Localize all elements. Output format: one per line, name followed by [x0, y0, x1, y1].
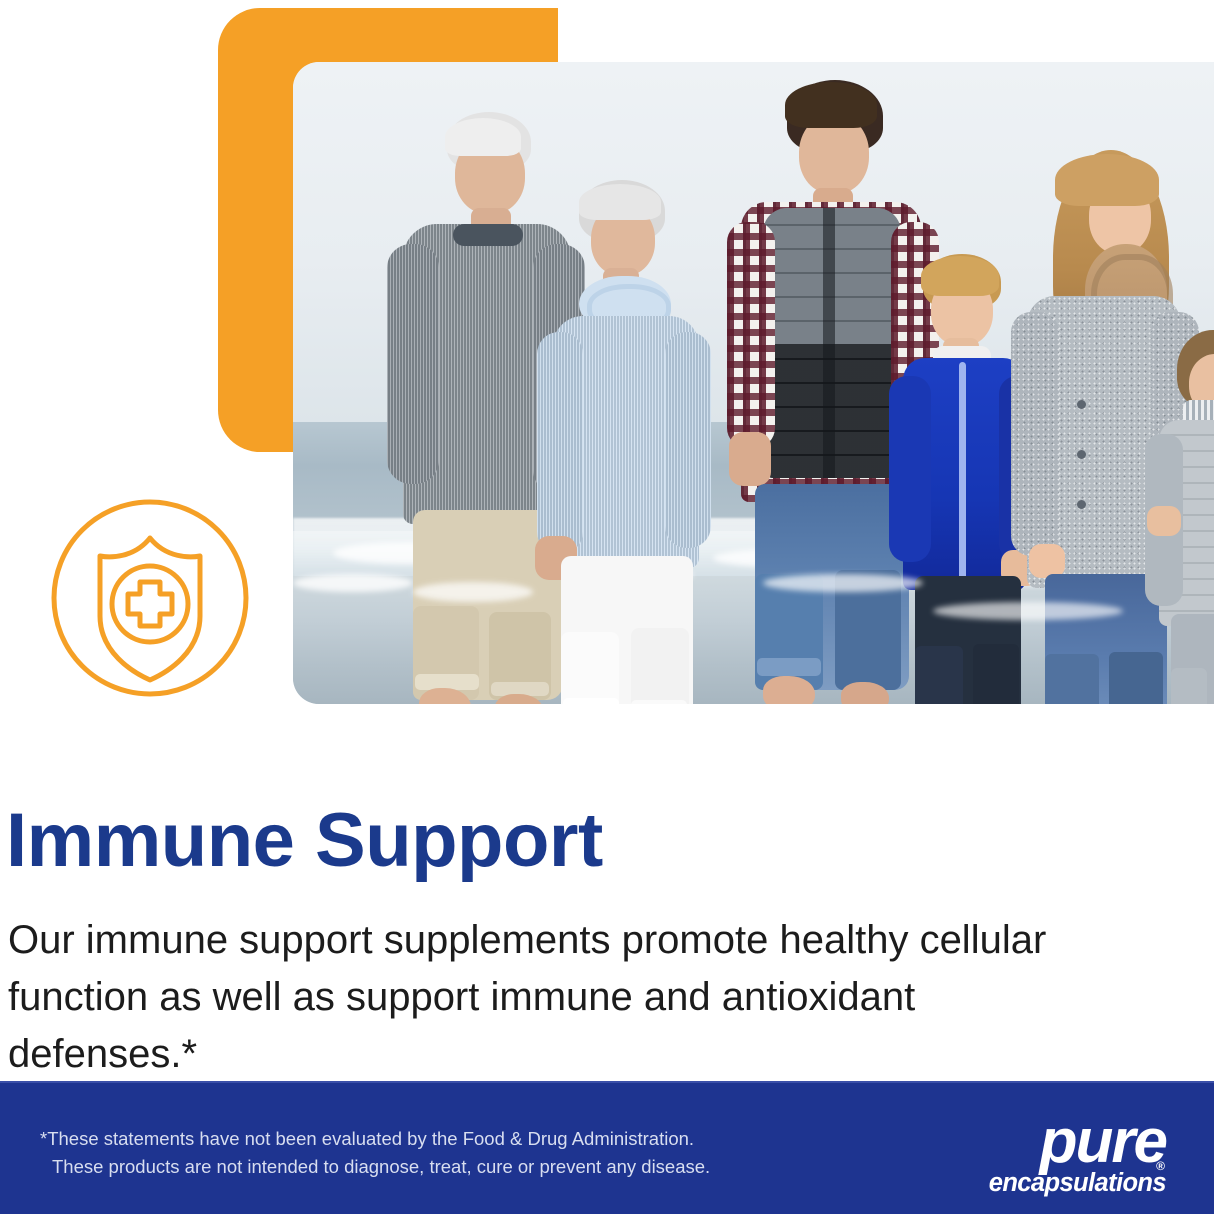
father-curls [785, 82, 877, 128]
logo-wordmark-encapsulations: encapsulations [950, 1171, 1166, 1197]
grandmother-left-arm [537, 332, 583, 554]
family-beach-photo [293, 62, 1214, 704]
son-left-arm [889, 376, 931, 562]
mother-hair-front [1055, 154, 1159, 206]
marketing-banner: Immune Support Our immune support supple… [0, 0, 1214, 1214]
pure-encapsulations-logo: pure encapsulations ® [950, 1113, 1166, 1195]
fda-disclaimer: *These statements have not been evaluate… [40, 1125, 710, 1181]
son-bangs [921, 256, 999, 296]
shield-with-medical-cross-icon [48, 496, 252, 700]
grandmother-right-arm [665, 332, 711, 548]
person-daughter [1143, 330, 1214, 704]
grandmother-hair-front [579, 184, 661, 220]
grandfather-hair-front [445, 118, 521, 156]
logo-wordmark-pure: pure [950, 1113, 1166, 1170]
father-foot [763, 676, 815, 704]
immune-shield-badge [48, 496, 252, 700]
body-copy: Our immune support supplements promote h… [8, 912, 1098, 1082]
page-title: Immune Support [6, 803, 603, 879]
footer-bar: *These statements have not been evaluate… [0, 1081, 1214, 1214]
registered-trademark-icon: ® [1156, 1159, 1165, 1173]
disclaimer-line-2: These products are not intended to diagn… [40, 1153, 710, 1181]
disclaimer-line-1: *These statements have not been evaluate… [40, 1128, 694, 1149]
person-grandmother [531, 180, 721, 704]
father-left-arm [727, 222, 775, 448]
mother-left-arm [1011, 312, 1059, 556]
grandfather-left-arm [387, 244, 439, 484]
